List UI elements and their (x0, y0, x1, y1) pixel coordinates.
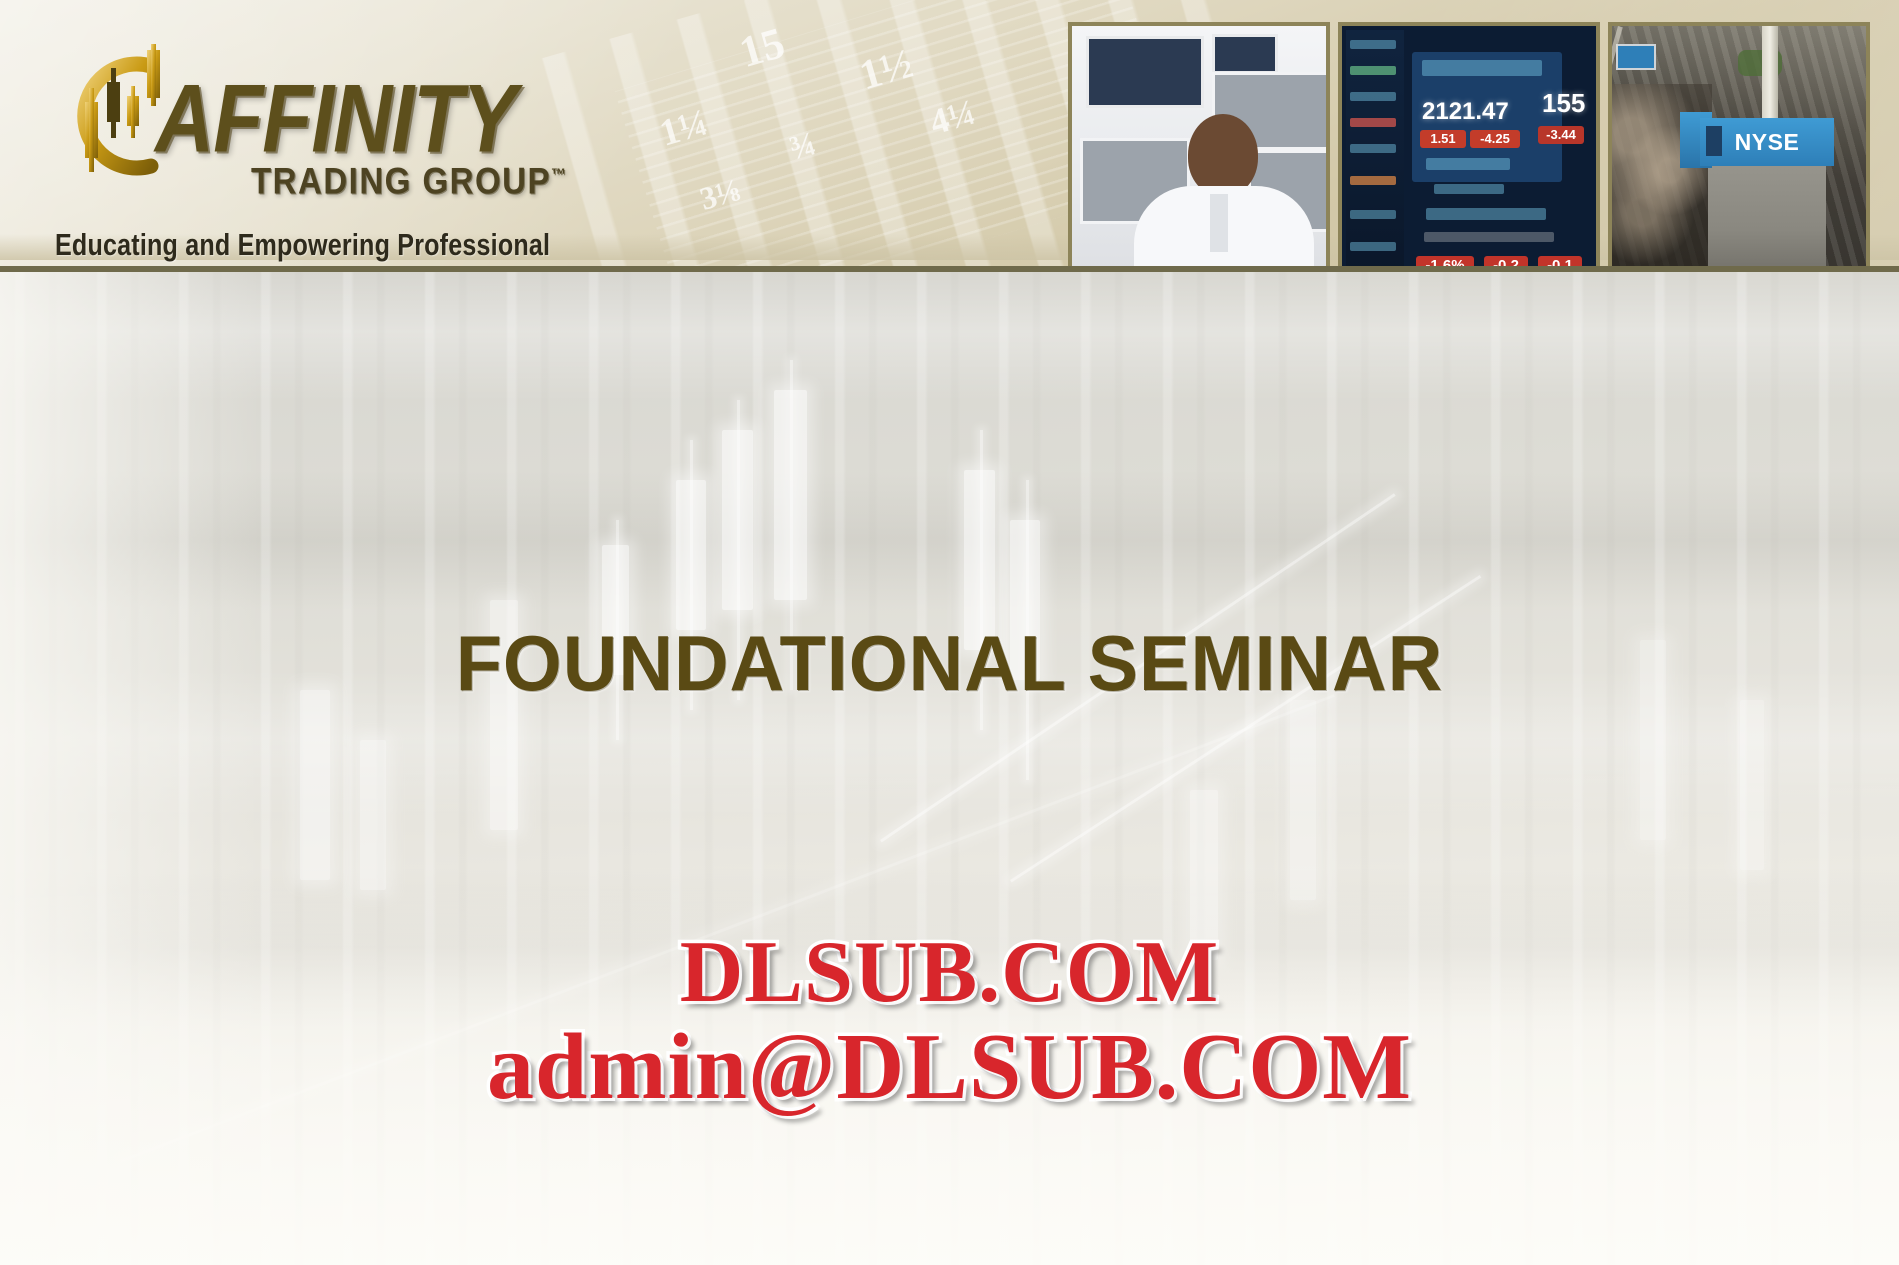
panel-header-bar (1422, 60, 1542, 76)
quote-row (1350, 118, 1396, 127)
quote-row (1350, 210, 1396, 219)
market-data-board-photo: 2121.47 155 1.51 -4.25 -3.44 -1.6% -0.2 … (1338, 22, 1600, 272)
trader-head (1188, 114, 1258, 196)
panel-label-bar (1426, 158, 1510, 170)
quote-row (1350, 92, 1396, 101)
change-pill: -0.2 (1484, 256, 1528, 272)
logo-tagline: Educating and Empowering Professional Tr… (55, 228, 576, 272)
nyse-sign: NYSE (1700, 118, 1834, 166)
background-candle-body (1740, 700, 1764, 870)
panel-label-bar (1424, 232, 1554, 242)
slide-header: 15 1½ 1¼ ¾ 4¼ 3⅛ (0, 0, 1899, 272)
nyse-trading-floor-photo: NYSE (1608, 22, 1870, 272)
watermark-email: admin@DLSUB.COM (0, 1013, 1899, 1121)
header-photo-strip: 2121.47 155 1.51 -4.25 -3.44 -1.6% -0.2 … (1068, 22, 1870, 272)
page-title: FOUNDATIONAL SEMINAR (28, 618, 1870, 709)
floor-column (1762, 26, 1778, 132)
background-candle-body (1290, 700, 1316, 900)
change-pill: 1.51 (1420, 130, 1466, 148)
monitor-screen (1212, 34, 1278, 74)
change-pill: -0.1 (1538, 256, 1582, 272)
trader-at-desk-photo (1068, 22, 1330, 272)
watermark-site: DLSUB.COM (0, 922, 1899, 1023)
quote-row (1350, 66, 1396, 75)
seminar-title-slide: 15 1½ 1¼ ¾ 4¼ 3⅛ (0, 0, 1899, 1265)
logo-subtitle: TRADING GROUP™ (251, 160, 566, 203)
quote-row (1350, 242, 1396, 251)
background-candle-body (722, 430, 753, 610)
background-candle-body (774, 390, 807, 600)
nyse-sign-text: NYSE (1735, 129, 1800, 156)
change-pill: -1.6% (1416, 256, 1474, 272)
change-pill: -3.44 (1538, 126, 1584, 144)
nyse-sign-emblem (1706, 126, 1722, 156)
panel-label-bar (1434, 184, 1504, 194)
wall-screen (1616, 44, 1656, 70)
panel-label-bar (1426, 208, 1546, 220)
quote-row (1350, 40, 1396, 49)
index-value: 2121.47 (1422, 98, 1509, 126)
monitor-screen (1086, 36, 1204, 108)
background-candle-body (360, 740, 386, 890)
affinity-logo[interactable]: AFFINITY TRADING GROUP™ Educating and Em… (55, 38, 615, 218)
quote-row (1350, 144, 1396, 153)
trademark-symbol: ™ (551, 166, 566, 185)
quote-row (1350, 176, 1396, 185)
index-value: 155 (1542, 88, 1585, 119)
logo-wordmark: AFFINITY (155, 64, 516, 175)
change-pill: -4.25 (1470, 130, 1520, 148)
background-candle-body (300, 690, 330, 880)
trader-collar (1210, 194, 1228, 252)
background-candle-body (676, 480, 706, 630)
logo-subtitle-text: TRADING GROUP (251, 160, 551, 201)
